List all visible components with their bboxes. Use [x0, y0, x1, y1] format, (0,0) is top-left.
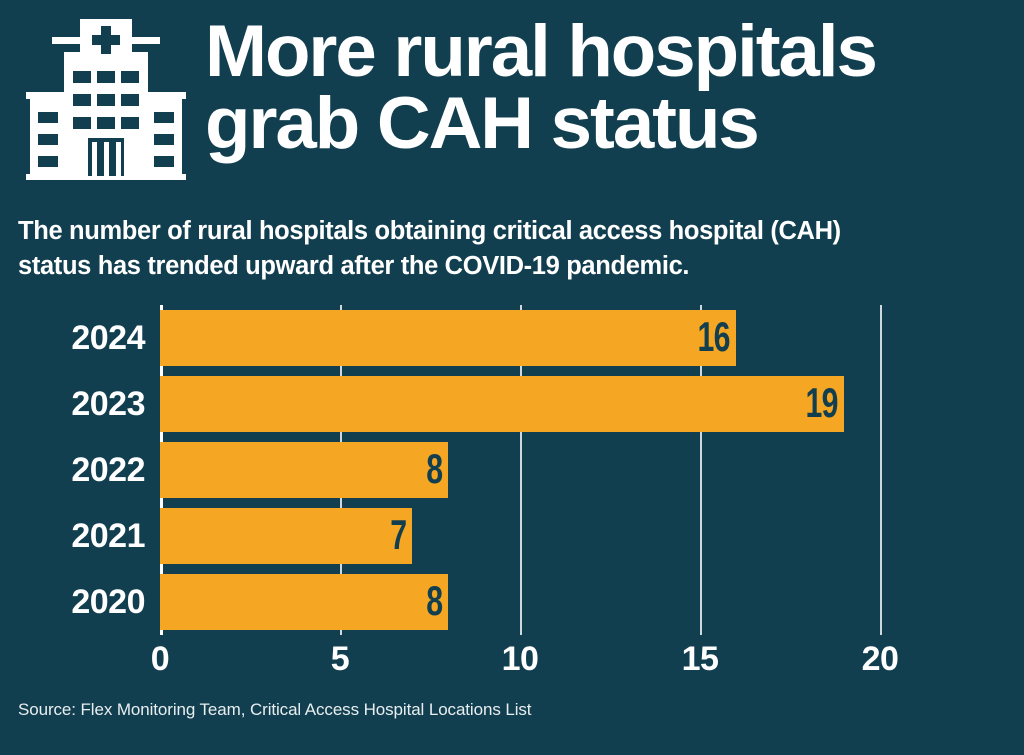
bar-chart: 20242023202220212020 1619878 05101520 [0, 300, 1024, 695]
source-note: Source: Flex Monitoring Team, Critical A… [18, 700, 531, 720]
hospital-building-icon [18, 14, 194, 190]
y-axis-label-2021: 2021 [0, 519, 145, 553]
bar-row[interactable]: 8 [160, 574, 448, 630]
y-axis-label-2020: 2020 [0, 585, 145, 619]
bar-row[interactable]: 16 [160, 310, 736, 366]
x-axis-tick-labels: 05101520 [0, 642, 1024, 687]
x-tick-label-15: 15 [660, 642, 740, 676]
bar-row[interactable]: 7 [160, 508, 412, 564]
bar-row[interactable]: 8 [160, 442, 448, 498]
y-axis-category-labels: 20242023202220212020 [0, 305, 145, 635]
bar-2023[interactable] [160, 376, 844, 432]
y-axis-label-2023: 2023 [0, 387, 145, 421]
title-line-2: grab CAH status [205, 88, 1024, 160]
subtitle: The number of rural hospitals obtaining … [18, 214, 1008, 283]
bar-value-label-2022: 8 [426, 448, 442, 490]
plot-area: 1619878 [160, 305, 910, 635]
bar-value-label-2020: 8 [426, 580, 442, 622]
subtitle-line-1: The number of rural hospitals obtaining … [18, 214, 1008, 249]
x-tick-label-0: 0 [120, 642, 200, 676]
bar-row[interactable]: 19 [160, 376, 844, 432]
x-tick-label-20: 20 [840, 642, 920, 676]
y-axis-label-2022: 2022 [0, 453, 145, 487]
x-tick-label-10: 10 [480, 642, 560, 676]
header: More rural hospitals grab CAH status [0, 0, 1024, 200]
page-title: More rural hospitals grab CAH status [205, 16, 1015, 159]
bar-value-label-2024: 16 [698, 316, 730, 358]
bar-value-label-2023: 19 [806, 382, 838, 424]
bar-2020[interactable] [160, 574, 448, 630]
bar-2022[interactable] [160, 442, 448, 498]
bar-2021[interactable] [160, 508, 412, 564]
subtitle-line-2: status has trended upward after the COVI… [18, 249, 1008, 284]
bar-value-label-2021: 7 [390, 514, 406, 556]
bar-2024[interactable] [160, 310, 736, 366]
title-line-1: More rural hospitals [205, 16, 1024, 88]
y-axis-label-2024: 2024 [0, 321, 145, 355]
x-tick-label-5: 5 [300, 642, 380, 676]
gridline-20 [880, 305, 882, 635]
